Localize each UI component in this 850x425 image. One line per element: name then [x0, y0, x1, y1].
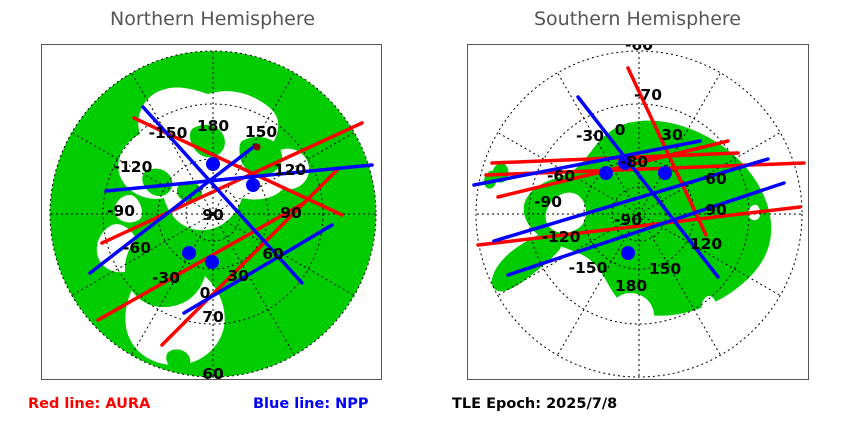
satellite-marker: [246, 178, 260, 192]
panel-southern-hemisphere: Southern Hemisphere: [425, 0, 850, 425]
satellite-marker: [205, 255, 219, 269]
svg-text:90: 90: [280, 204, 302, 222]
svg-text:-60: -60: [625, 45, 653, 54]
svg-text:-80: -80: [620, 153, 648, 171]
legend-tle-epoch: TLE Epoch: 2025/7/8: [452, 396, 617, 412]
satellite-marker: [621, 246, 635, 260]
satellite-marker: [182, 246, 196, 260]
svg-text:-30: -30: [152, 269, 180, 287]
svg-text:0: 0: [200, 284, 211, 302]
aura-marker-group-north: [254, 144, 261, 151]
svg-text:60: 60: [202, 365, 224, 379]
page-title-south: Southern Hemisphere: [425, 8, 850, 30]
svg-text:-60: -60: [547, 167, 575, 185]
legend-red-line: Red line: AURA: [28, 396, 150, 412]
plot-frame-south: -60 -70 0 30 60 90 120 150 180 -150 -120…: [467, 44, 809, 380]
svg-text:150: 150: [649, 260, 682, 278]
svg-text:-90: -90: [107, 202, 135, 220]
svg-text:-60: -60: [123, 239, 151, 257]
svg-text:-150: -150: [149, 124, 188, 142]
page-title-north: Northern Hemisphere: [0, 8, 425, 30]
svg-text:-90: -90: [534, 193, 562, 211]
polar-map-north: 180 150 120 90 60 30 0 -30 -60 -90 -120 …: [42, 45, 381, 379]
polar-map-south: -60 -70 0 30 60 90 120 150 180 -150 -120…: [468, 45, 808, 379]
svg-text:30: 30: [227, 267, 249, 285]
satellite-marker: [206, 157, 220, 171]
svg-text:90: 90: [705, 201, 727, 219]
svg-text:0: 0: [615, 121, 626, 139]
legend-blue-line: Blue line: NPP: [253, 396, 369, 412]
svg-text:180: 180: [197, 117, 230, 135]
svg-text:60: 60: [262, 245, 284, 263]
plot-frame-north: 180 150 120 90 60 30 0 -30 -60 -90 -120 …: [41, 44, 382, 380]
svg-text:90: 90: [202, 206, 224, 224]
svg-text:120: 120: [274, 161, 307, 179]
svg-text:-90: -90: [614, 211, 642, 229]
svg-text:-120: -120: [114, 158, 153, 176]
svg-text:150: 150: [245, 123, 278, 141]
svg-text:120: 120: [690, 235, 723, 253]
svg-text:-150: -150: [569, 259, 608, 277]
panel-northern-hemisphere: Northern Hemisphere: [0, 0, 425, 425]
svg-text:60: 60: [705, 170, 727, 188]
svg-text:70: 70: [202, 308, 224, 326]
svg-text:-70: -70: [634, 86, 662, 104]
svg-text:30: 30: [661, 126, 683, 144]
svg-text:-120: -120: [542, 228, 581, 246]
svg-text:180: 180: [615, 277, 648, 295]
satellite-marker: [599, 166, 613, 180]
svg-text:-30: -30: [576, 127, 604, 145]
aura-marker: [254, 144, 261, 151]
satellite-marker: [658, 166, 672, 180]
